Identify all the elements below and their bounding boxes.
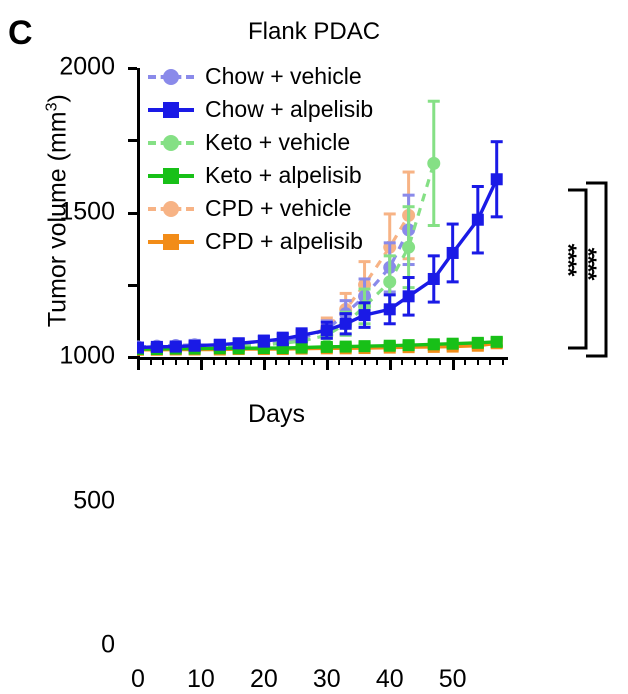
x-tick-label: 10: [187, 665, 215, 694]
y-tick-label: 500: [73, 486, 115, 515]
x-tick-label: 40: [376, 665, 404, 694]
x-tick-label: 0: [131, 665, 145, 694]
x-tick-label: 50: [439, 665, 467, 694]
significance-bracket-outer-label: ****: [576, 248, 599, 280]
y-tick-label: 0: [101, 631, 115, 660]
x-tick-label: 30: [313, 665, 341, 694]
x-tick-label: 20: [250, 665, 278, 694]
bracket-canvas: [0, 0, 628, 438]
figure-panel: C Flank PDAC Tumor volume (mm3) Days 050…: [0, 0, 628, 438]
